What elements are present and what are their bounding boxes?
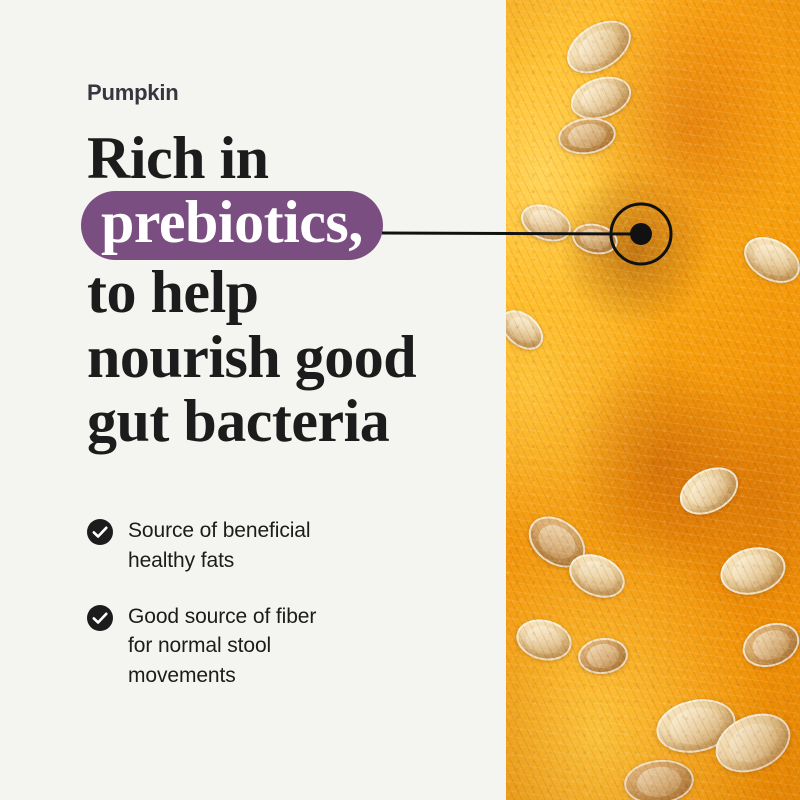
poster-canvas: Pumpkin Rich inprebiotics,to helpnourish… (0, 0, 800, 800)
benefit-item: Source of beneficial healthy fats (87, 516, 417, 576)
benefit-item-text: Source of beneficial healthy fats (128, 516, 310, 576)
benefit-item-text: Good source of fiber for normal stool mo… (128, 602, 316, 691)
headline: Rich inprebiotics,to helpnourish goodgut… (87, 126, 507, 453)
headline-line-2: prebiotics, (87, 190, 507, 260)
headline-line-5: gut bacteria (87, 389, 507, 453)
headline-line-3: to help (87, 260, 507, 324)
headline-highlight-pill: prebiotics, (81, 191, 383, 260)
eyebrow-label: Pumpkin (87, 82, 506, 104)
headline-line-4: nourish good (87, 325, 507, 389)
pumpkin-photo (506, 0, 800, 800)
photo-vignette-layer (506, 0, 800, 800)
headline-line-1: Rich in (87, 126, 507, 190)
benefit-item: Good source of fiber for normal stool mo… (87, 602, 417, 691)
check-circle-icon (87, 519, 113, 545)
check-circle-icon (87, 605, 113, 631)
benefit-list: Source of beneficial healthy fatsGood so… (87, 516, 417, 691)
